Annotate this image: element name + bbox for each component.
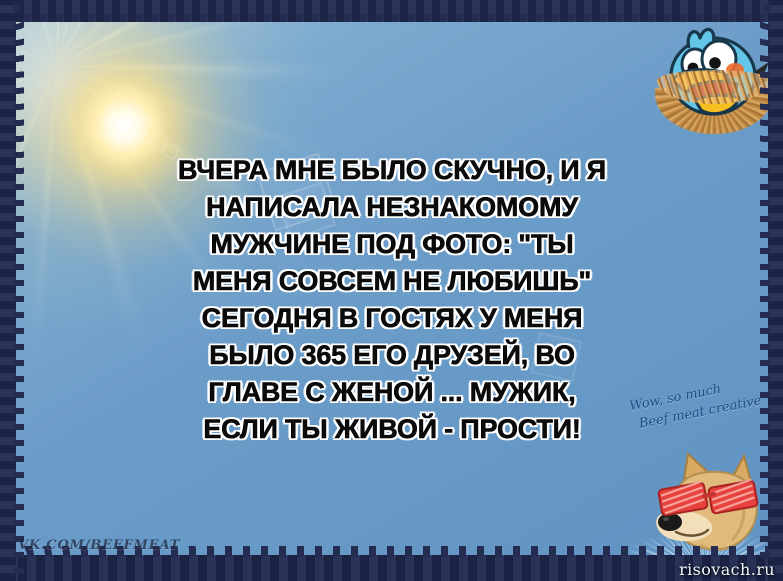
lens-flare-icon [147,130,170,152]
ice-cube-icon [256,152,338,231]
meme-image: ВЧЕРА МНЕ БЫЛО СКУЧНО, И Я НАПИСАЛА НЕЗН… [0,0,783,581]
lens-flare-icon [132,116,161,145]
ice-cube-icon [276,182,336,241]
sun-rays-icon [0,0,374,376]
lens-flare-icon [105,93,145,132]
vk-watermark: VK.COM/BEEFMEAT [18,538,180,553]
lens-flare-icon [120,105,154,138]
sun-icon [0,0,274,276]
blue-angry-bird-in-nest-icon [655,18,773,136]
lens-flare-icon [161,141,181,160]
doge-with-shutter-shades-icon [640,452,772,552]
ice-cube-icon [530,332,582,382]
risovach-watermark: risovach.ru [679,560,775,579]
doge-icon [640,452,772,557]
